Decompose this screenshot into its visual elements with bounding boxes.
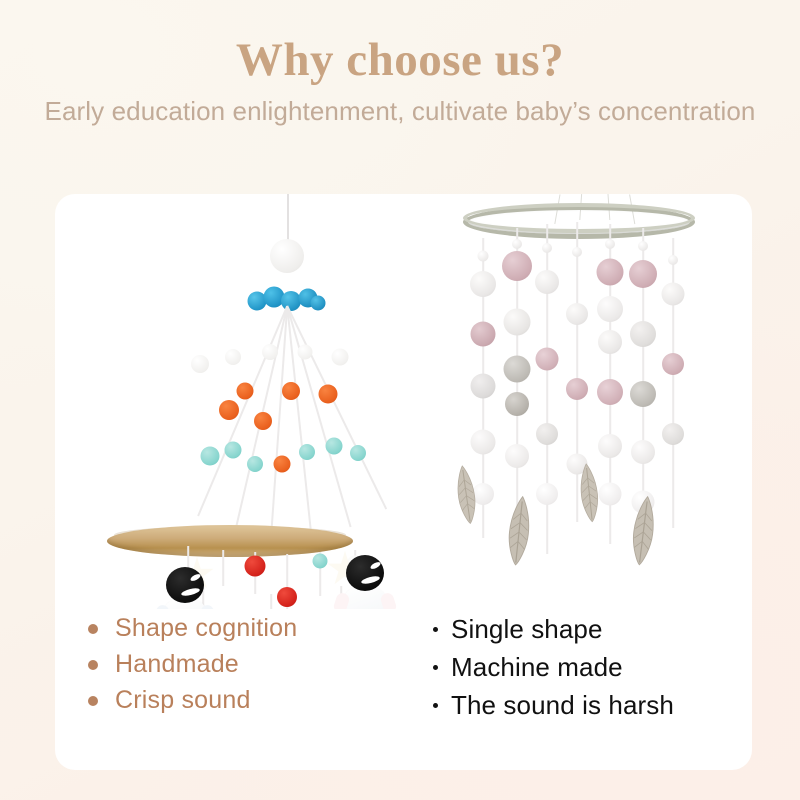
wooden-ring xyxy=(107,525,353,557)
pom-orange xyxy=(219,400,239,420)
comparison-card: Shape cognition Handmade Crisp sound xyxy=(55,194,752,770)
pom-mint xyxy=(299,444,315,460)
pom-white xyxy=(332,349,349,366)
felt-astronaut xyxy=(154,570,216,609)
bullet-dot-icon xyxy=(433,627,438,632)
pom-white xyxy=(191,355,209,373)
pom-red xyxy=(277,587,297,607)
pom-mint xyxy=(326,438,343,455)
list-item: Crisp sound xyxy=(88,686,438,715)
pom-white xyxy=(262,344,278,360)
list-item-label: The sound is harsh xyxy=(451,690,674,721)
pane-our-product: Shape cognition Handmade Crisp sound xyxy=(55,194,405,770)
pom-orange xyxy=(237,383,254,400)
pom-white xyxy=(225,349,241,365)
pom-red xyxy=(245,556,266,577)
pom-orange xyxy=(319,385,338,404)
product-photo-space-mobile xyxy=(55,194,405,609)
list-item-label: Crisp sound xyxy=(115,686,251,715)
header: Why choose us? Early education enlighten… xyxy=(0,36,800,129)
wooden-feather-pendant xyxy=(451,462,481,526)
list-item-label: Shape cognition xyxy=(115,614,297,643)
astronaut-helmet xyxy=(346,555,384,591)
pom-white xyxy=(298,345,313,360)
list-item-label: Single shape xyxy=(451,614,603,645)
pom-mint xyxy=(313,554,328,569)
bullet-dot-icon xyxy=(88,696,98,706)
metal-ring-highlight xyxy=(463,203,695,233)
pom-mint xyxy=(225,442,242,459)
pom-mint xyxy=(350,445,366,461)
product-photo-neutral-mobile xyxy=(405,194,752,609)
list-item: The sound is harsh xyxy=(433,690,780,721)
list-item: Machine made xyxy=(433,652,780,683)
list-item-label: Handmade xyxy=(115,650,239,679)
pom-orange xyxy=(282,382,300,400)
bullet-dot-icon xyxy=(433,665,438,670)
list-item: Single shape xyxy=(433,614,780,645)
our-product-bullet-list: Shape cognition Handmade Crisp sound xyxy=(55,614,438,722)
bullet-dot-icon xyxy=(88,660,98,670)
page-subtitle: Early education enlightenment, cultivate… xyxy=(0,95,800,128)
hanger-cord xyxy=(287,194,289,240)
top-felt-ball xyxy=(270,239,304,273)
list-item: Handmade xyxy=(88,650,438,679)
pom-orange xyxy=(274,456,291,473)
wooden-feather-pendant xyxy=(575,461,603,525)
felt-astronaut xyxy=(334,558,396,609)
pom-orange xyxy=(254,412,272,430)
pom-mint xyxy=(247,456,263,472)
page-title: Why choose us? xyxy=(0,36,800,85)
pom-mint xyxy=(201,447,220,466)
other-product-bullet-list: Single shape Machine made The sound is h… xyxy=(405,614,780,728)
list-item-label: Machine made xyxy=(451,652,623,683)
bullet-dot-icon xyxy=(433,703,438,708)
list-item: Shape cognition xyxy=(88,614,438,643)
astronaut-helmet xyxy=(166,567,204,603)
bullet-dot-icon xyxy=(88,624,98,634)
pane-other-product: Single shape Machine made The sound is h… xyxy=(405,194,752,770)
poster: Why choose us? Early education enlighten… xyxy=(0,0,800,800)
